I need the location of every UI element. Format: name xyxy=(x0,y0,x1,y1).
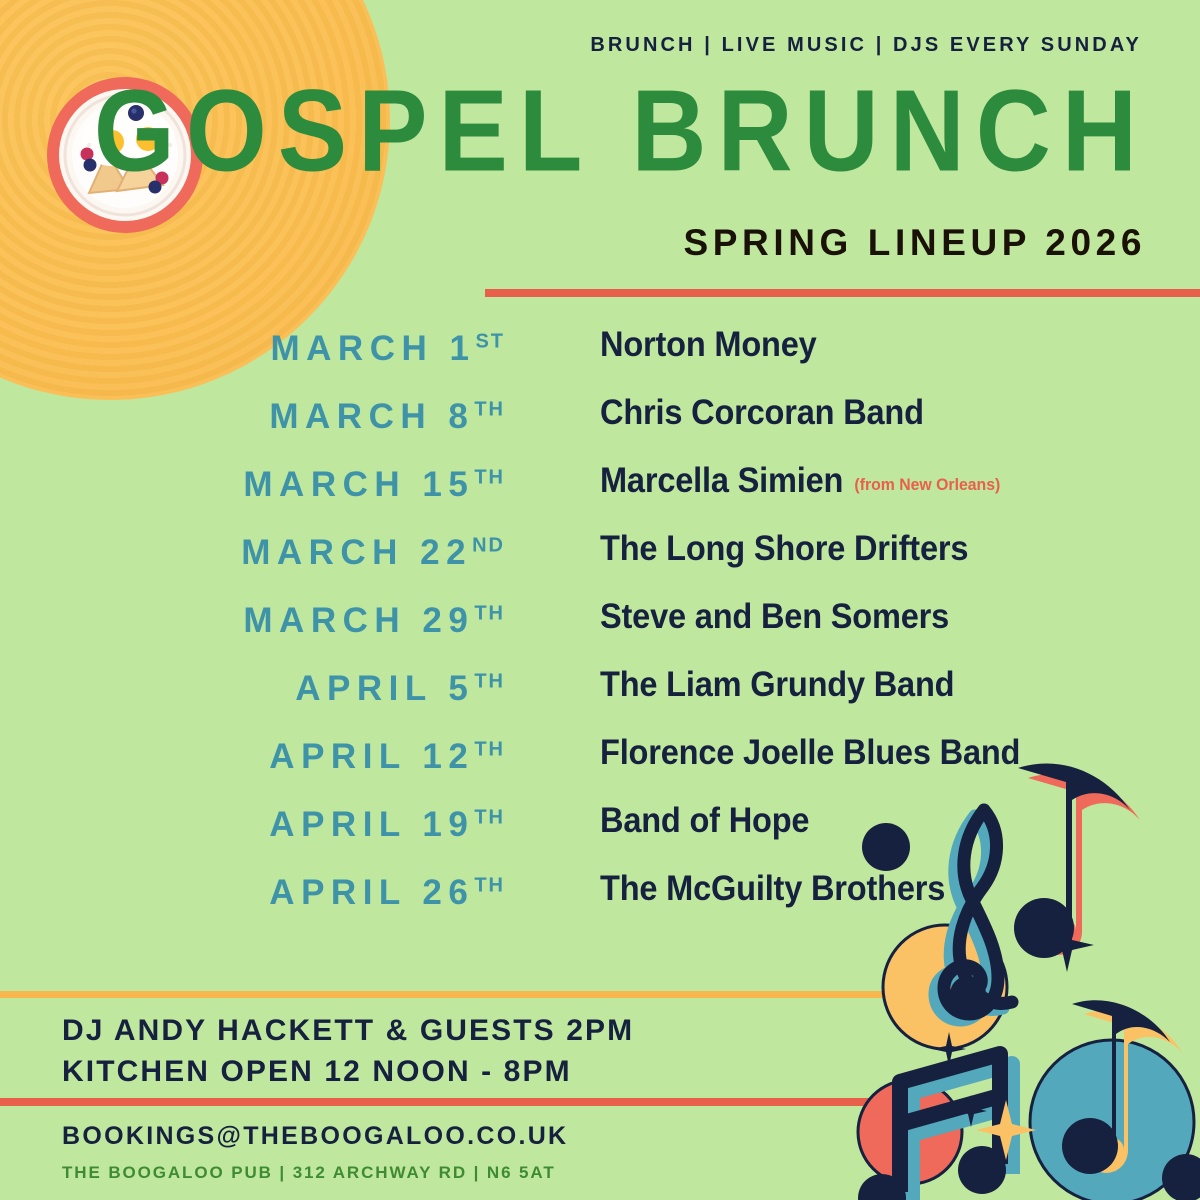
tagline: BRUNCH | LIVE MUSIC | DJS EVERY SUNDAY xyxy=(590,34,1142,57)
kitchen-info: KITCHEN OPEN 12 NOON - 8PM xyxy=(62,1055,572,1089)
lineup-date: APRIL 19TH xyxy=(0,805,505,845)
booking-email[interactable]: BOOKINGS@THEBOOGALOO.CO.UK xyxy=(62,1122,568,1151)
footer-divider-orange xyxy=(0,991,905,998)
date-ordinal: TH xyxy=(474,466,505,488)
lineup-date: MARCH 8TH xyxy=(0,397,505,437)
lineup-row: MARCH 22NDThe Long Shore Drifters xyxy=(0,529,1200,597)
lineup-artist: Marcella Simien(from New Orleans) xyxy=(600,461,1000,501)
subtitle: SPRING LINEUP 2026 xyxy=(683,222,1146,264)
lineup-row: MARCH 29THSteve and Ben Somers xyxy=(0,597,1200,665)
lineup-artist: Norton Money xyxy=(600,325,817,365)
artist-origin-note: (from New Orleans) xyxy=(854,475,1000,494)
lineup-row: MARCH 1STNorton Money xyxy=(0,325,1200,393)
date-ordinal: TH xyxy=(474,602,505,624)
venue-address: THE BOOGALOO PUB | 312 ARCHWAY RD | N6 5… xyxy=(62,1163,556,1183)
header-divider xyxy=(485,289,1200,297)
poster-canvas: BRUNCH | LIVE MUSIC | DJS EVERY SUNDAY G… xyxy=(0,0,1200,1200)
date-ordinal: TH xyxy=(474,738,505,760)
lineup-artist: The Long Shore Drifters xyxy=(600,529,968,569)
date-ordinal: TH xyxy=(474,398,505,420)
lineup-date: MARCH 29TH xyxy=(0,601,505,641)
lineup-artist: Steve and Ben Somers xyxy=(600,597,949,637)
lineup-row: APRIL 5THThe Liam Grundy Band xyxy=(0,665,1200,733)
lineup-date: MARCH 1ST xyxy=(0,329,505,369)
lineup-date: MARCH 15TH xyxy=(0,465,505,505)
date-ordinal: TH xyxy=(474,806,505,828)
date-ordinal: TH xyxy=(474,874,505,896)
lineup-date: APRIL 12TH xyxy=(0,737,505,777)
dj-info: DJ ANDY HACKETT & GUESTS 2PM xyxy=(62,1014,634,1048)
lineup-date: APRIL 5TH xyxy=(0,669,505,709)
lineup-artist: The Liam Grundy Band xyxy=(600,665,954,705)
lineup-date: MARCH 22ND xyxy=(0,533,505,573)
date-ordinal: TH xyxy=(474,670,505,692)
date-ordinal: ST xyxy=(475,330,505,352)
footer-divider-coral xyxy=(0,1098,880,1106)
date-ordinal: ND xyxy=(472,534,505,556)
page-title: GOSPEL BRUNCH xyxy=(94,73,1148,189)
lineup-artist: Chris Corcoran Band xyxy=(600,393,924,433)
lineup-date: APRIL 26TH xyxy=(0,873,505,913)
lineup-row: MARCH 15THMarcella Simien(from New Orlea… xyxy=(0,461,1200,529)
lineup-row: MARCH 8THChris Corcoran Band xyxy=(0,393,1200,461)
music-notes-collage xyxy=(850,742,1200,1200)
lineup-artist: Band of Hope xyxy=(600,801,809,841)
